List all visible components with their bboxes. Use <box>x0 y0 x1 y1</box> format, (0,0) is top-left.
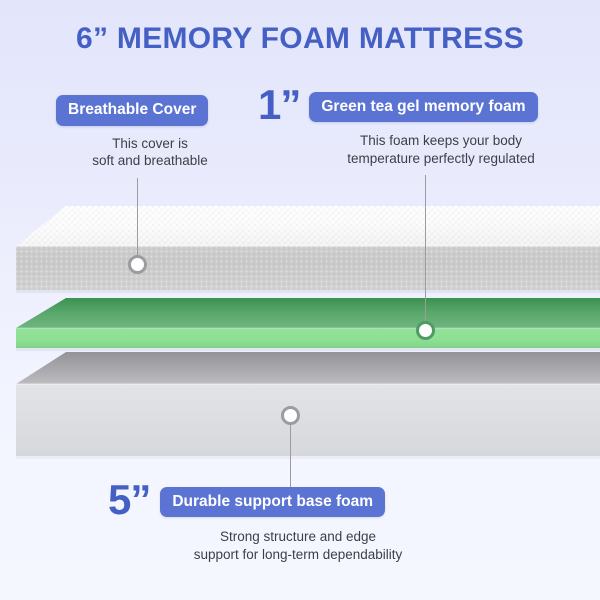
callout-green-tea-gel: 1” Green tea gel memory foam This foam k… <box>258 88 578 168</box>
marker-dot-base <box>281 406 300 425</box>
measurement-durable-base: 5” <box>108 483 150 517</box>
callout-durable-base: 5” Durable support base foam Strong stru… <box>108 483 438 564</box>
description-durable-base: Strong structure and edge support for lo… <box>158 528 438 564</box>
description-breathable-cover: This cover is soft and breathable <box>52 135 248 171</box>
connector-line-gel <box>425 175 426 329</box>
measurement-green-tea-gel: 1” <box>258 88 300 122</box>
marker-dot-gel <box>416 321 435 340</box>
base-layer <box>16 352 600 459</box>
marker-dot-cover <box>128 255 147 274</box>
cover-layer <box>16 206 600 293</box>
connector-line-base <box>290 424 291 490</box>
callout-gel-row: 1” Green tea gel memory foam <box>258 88 578 122</box>
badge-green-tea-gel[interactable]: Green tea gel memory foam <box>309 92 537 123</box>
description-green-tea-gel: This foam keeps your body temperature pe… <box>304 132 578 168</box>
callout-base-row: 5” Durable support base foam <box>108 483 438 517</box>
gel-layer <box>16 298 600 351</box>
badge-breathable-cover[interactable]: Breathable Cover <box>56 95 208 126</box>
connector-line-cover <box>137 178 138 264</box>
mattress-infographic: 6” MEMORY FOAM MATTRESS <box>0 0 600 600</box>
callout-breathable-cover: Breathable Cover This cover is soft and … <box>52 95 248 170</box>
badge-durable-base[interactable]: Durable support base foam <box>160 487 385 518</box>
page-title: 6” MEMORY FOAM MATTRESS <box>0 22 600 56</box>
